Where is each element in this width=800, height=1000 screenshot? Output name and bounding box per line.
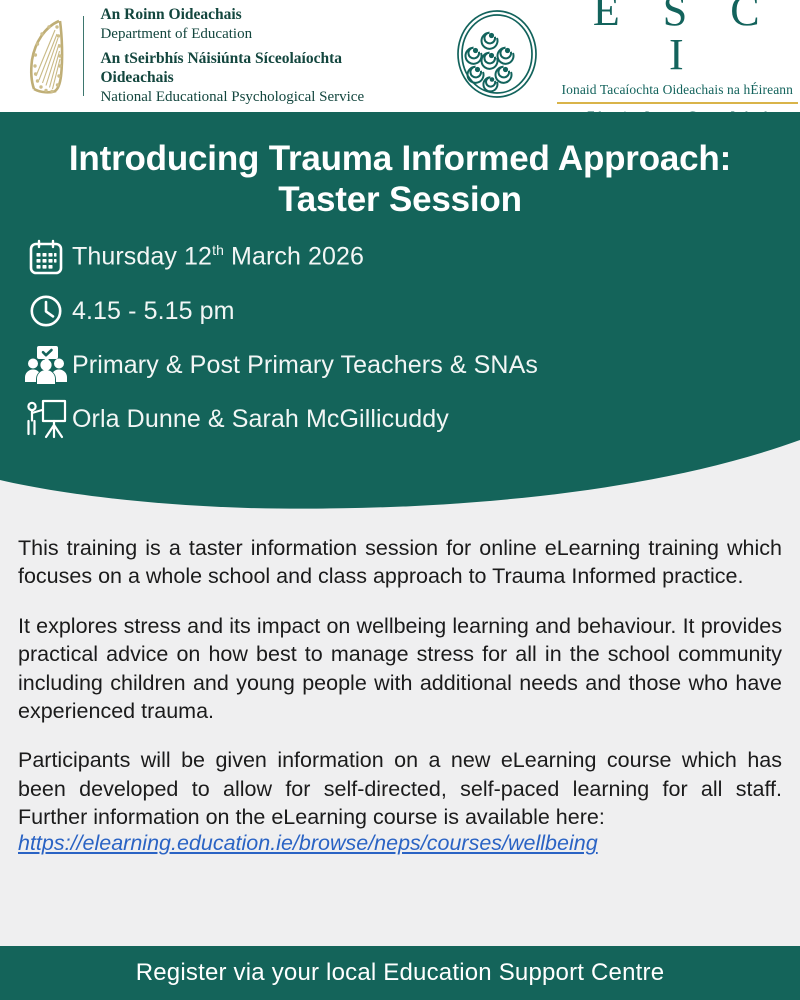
irish-harp-emblem — [18, 13, 73, 99]
event-date-ordinal: th — [212, 242, 224, 258]
event-audience: Primary & Post Primary Teachers & SNAs — [72, 351, 538, 380]
presenter-whiteboard-icon — [20, 396, 72, 442]
paragraph-3: Participants will be given information o… — [18, 746, 782, 831]
gov-line-irish-1: An Roinn Oideachais — [100, 6, 410, 25]
body-content: This training is a taster information se… — [18, 534, 782, 856]
detail-row-audience: Primary & Post Primary Teachers & SNAs — [20, 342, 760, 388]
event-date: Thursday 12th March 2026 — [72, 242, 364, 271]
esci-gold-rule — [557, 102, 798, 104]
page-title-line1: Introducing Trauma Informed Approach: — [69, 139, 731, 178]
gov-line-english-1: Department of Education — [100, 25, 410, 43]
paragraph-1: This training is a taster information se… — [18, 534, 782, 591]
government-logo: An Roinn Oideachais Department of Educat… — [18, 6, 411, 106]
event-time: 4.15 - 5.15 pm — [72, 297, 235, 326]
elearning-link-line: https://elearning.education.ie/browse/ne… — [18, 831, 782, 856]
esci-logo: E S C I Ionaid Tacaíochta Oideachais na … — [453, 0, 800, 124]
event-details-list: Thursday 12th March 2026 4.15 - 5.15 pm — [20, 234, 760, 450]
footer-bar: Register via your local Education Suppor… — [0, 946, 800, 1000]
gov-line-english-2: National Educational Psychological Servi… — [100, 88, 410, 106]
event-date-suffix: March 2026 — [224, 243, 364, 271]
event-date-prefix: Thursday 12 — [72, 243, 212, 271]
hero-banner: Introducing Trauma Informed Approach: Ta… — [0, 112, 800, 512]
logo-divider — [83, 16, 85, 96]
elearning-course-link[interactable]: https://elearning.education.ie/browse/ne… — [18, 831, 598, 855]
esci-logo-text: E S C I Ionaid Tacaíochta Oideachais na … — [555, 0, 800, 124]
detail-row-time: 4.15 - 5.15 pm — [20, 288, 760, 334]
gov-line-irish-2: An tSeirbhís Náisiúnta Síceolaíochta Oid… — [100, 50, 410, 88]
page-title: Introducing Trauma Informed Approach: Ta… — [0, 138, 800, 221]
footer-registration-text: Register via your local Education Suppor… — [136, 959, 665, 987]
poster-page: An Roinn Oideachais Department of Educat… — [0, 0, 800, 1000]
detail-row-date: Thursday 12th March 2026 — [20, 234, 760, 280]
audience-group-icon — [20, 342, 72, 388]
paragraph-2: It explores stress and its impact on wel… — [18, 612, 782, 726]
clock-icon — [20, 288, 72, 334]
esci-irish-tagline: Ionaid Tacaíochta Oideachais na hÉireann — [555, 82, 800, 98]
page-title-line2: Taster Session — [278, 180, 522, 219]
esci-letters: E S C I — [555, 0, 800, 77]
government-logo-text: An Roinn Oideachais Department of Educat… — [100, 6, 410, 106]
calendar-icon — [20, 234, 72, 280]
event-presenters: Orla Dunne & Sarah McGillicuddy — [72, 405, 449, 434]
celtic-spiral-circle-icon — [453, 8, 541, 105]
logo-bar: An Roinn Oideachais Department of Educat… — [0, 0, 800, 112]
detail-row-presenters: Orla Dunne & Sarah McGillicuddy — [20, 396, 760, 442]
